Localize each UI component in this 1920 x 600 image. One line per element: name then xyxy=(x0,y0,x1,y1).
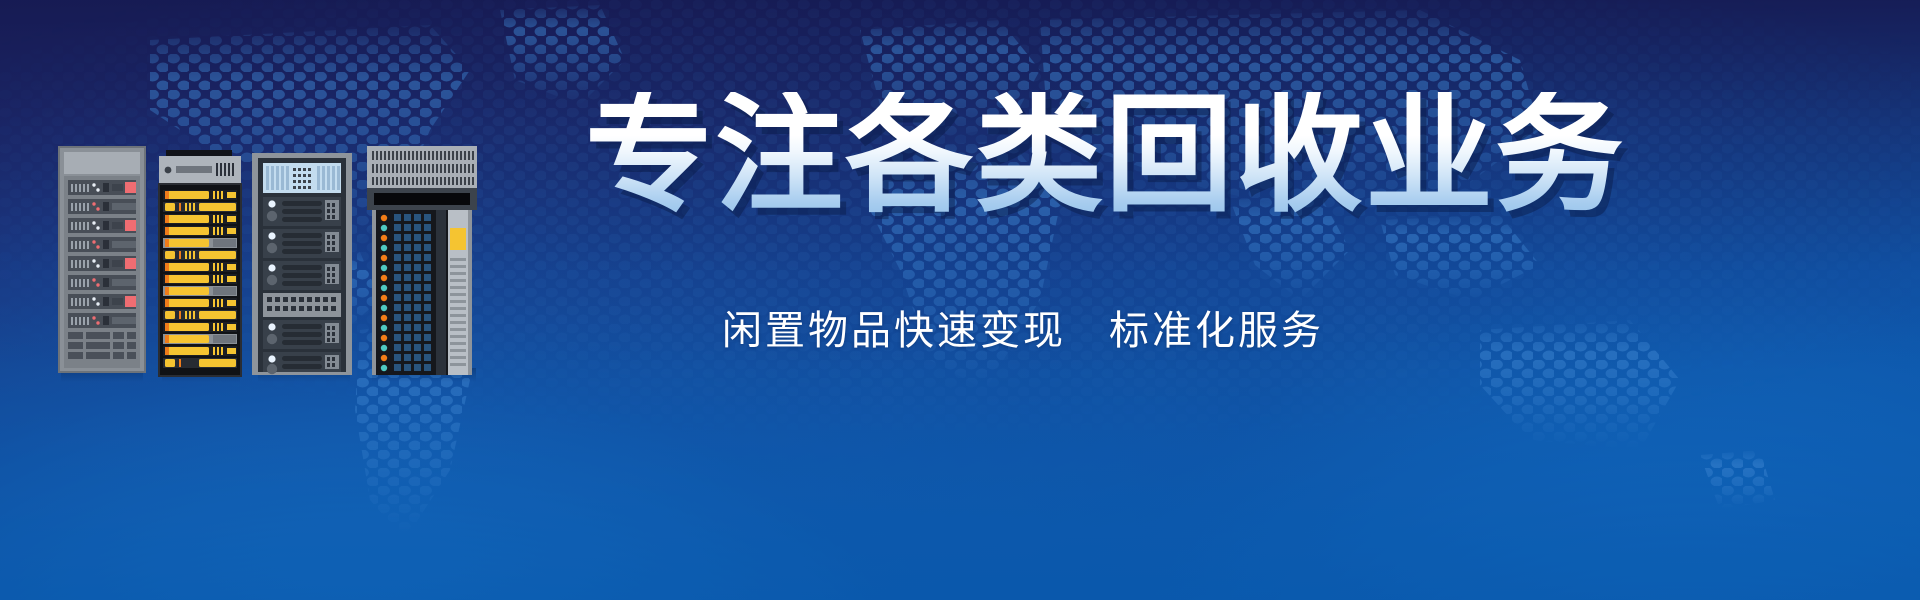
banner-headline: 专注各类回收业务 xyxy=(585,92,1625,220)
promo-banner: 专注各类回收业务 闲置物品快速变现 标准化服务 xyxy=(0,0,1920,600)
rack-black-leds xyxy=(367,146,477,382)
rack-black-yellow xyxy=(159,150,241,382)
server-racks-illustration xyxy=(0,0,540,600)
banner-subtitle: 闲置物品快速变现 标准化服务 xyxy=(722,298,1324,356)
rack-dark-blue-panel xyxy=(252,153,352,382)
rack-gray-red xyxy=(59,147,149,382)
